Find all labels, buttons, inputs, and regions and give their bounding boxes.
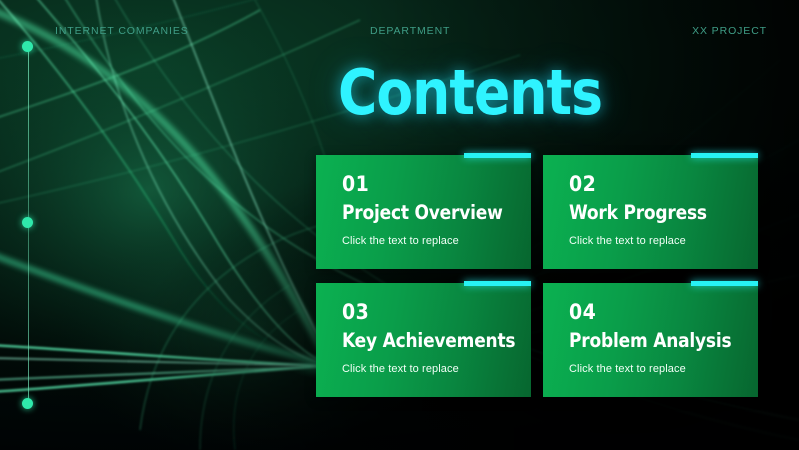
timeline-dot-3 bbox=[22, 398, 33, 409]
accent-bar-icon bbox=[464, 281, 531, 286]
card-subtitle[interactable]: Click the text to replace bbox=[342, 363, 459, 375]
card-number: 03 bbox=[342, 300, 369, 324]
card-title[interactable]: Key Achievements bbox=[342, 329, 515, 352]
card-title[interactable]: Problem Analysis bbox=[569, 329, 731, 352]
header-label-department: DEPARTMENT bbox=[370, 25, 450, 37]
timeline-dot-1 bbox=[22, 41, 33, 52]
page-title: Contents bbox=[338, 57, 602, 129]
header-label-project: XX PROJECT bbox=[692, 25, 767, 37]
contents-card-01[interactable]: 01 Project Overview Click the text to re… bbox=[316, 155, 531, 269]
slide-header: INTERNET COMPANIES DEPARTMENT XX PROJECT bbox=[0, 25, 799, 41]
timeline-dot-2 bbox=[22, 217, 33, 228]
accent-bar-icon bbox=[691, 281, 758, 286]
accent-bar-icon bbox=[464, 153, 531, 158]
card-number: 04 bbox=[569, 300, 596, 324]
accent-bar-icon bbox=[691, 153, 758, 158]
card-subtitle[interactable]: Click the text to replace bbox=[342, 235, 459, 247]
contents-card-grid: 01 Project Overview Click the text to re… bbox=[316, 155, 758, 396]
contents-card-02[interactable]: 02 Work Progress Click the text to repla… bbox=[543, 155, 758, 269]
card-number: 02 bbox=[569, 172, 596, 196]
card-subtitle[interactable]: Click the text to replace bbox=[569, 235, 686, 247]
slide-canvas: INTERNET COMPANIES DEPARTMENT XX PROJECT… bbox=[0, 0, 799, 450]
contents-card-04[interactable]: 04 Problem Analysis Click the text to re… bbox=[543, 283, 758, 397]
card-title[interactable]: Work Progress bbox=[569, 201, 707, 224]
contents-card-03[interactable]: 03 Key Achievements Click the text to re… bbox=[316, 283, 531, 397]
card-number: 01 bbox=[342, 172, 369, 196]
header-label-company: INTERNET COMPANIES bbox=[55, 25, 189, 37]
card-title[interactable]: Project Overview bbox=[342, 201, 503, 224]
card-subtitle[interactable]: Click the text to replace bbox=[569, 363, 686, 375]
